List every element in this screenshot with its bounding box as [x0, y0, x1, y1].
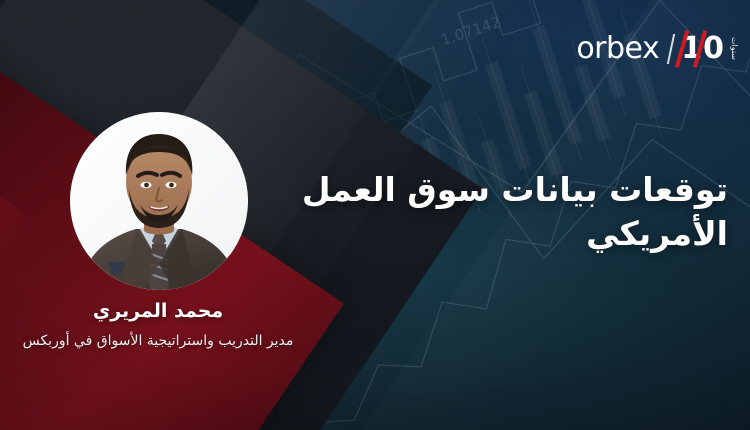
headline-title: توقعات بيانات سوق العمل الأمريكي [258, 168, 728, 256]
logo-wordmark: orbex [576, 34, 659, 64]
logo-divider [667, 34, 675, 64]
logo-anniversary-number: 10 [681, 34, 725, 64]
speaker-name: محمد المريري [0, 300, 316, 324]
speaker-role: مدير التدريب واستراتيجية الأسواق في أورب… [0, 331, 316, 352]
logo-anniversary-label: سنوات [730, 37, 738, 60]
speaker-avatar [70, 112, 248, 290]
speaker-info: محمد المريري مدير التدريب واستراتيجية ال… [0, 300, 316, 352]
orbex-logo: orbex 10 سنوات [576, 32, 738, 66]
webinar-banner: 1.07142 [0, 0, 750, 430]
